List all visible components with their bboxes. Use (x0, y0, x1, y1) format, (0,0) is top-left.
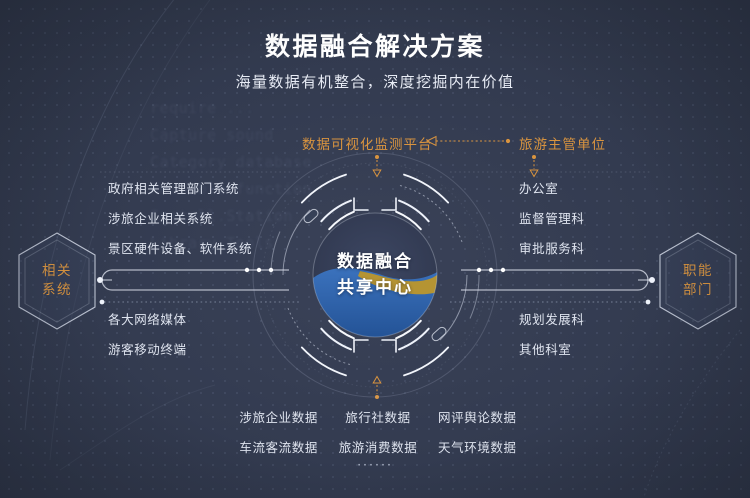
list-right-bottom: 规划发展科 其他科室 (519, 309, 585, 369)
list-item[interactable]: 其他科室 (519, 339, 585, 358)
list-item[interactable]: 景区硬件设备、软件系统 (108, 238, 252, 257)
hexagon-functional-departments[interactable]: 职能 部门 (652, 229, 744, 333)
list-item[interactable]: 网评舆论数据 (432, 407, 523, 426)
list-item[interactable]: 各大网络媒体 (108, 309, 187, 328)
list-bottom-data-sources: 涉旅企业数据 旅行社数据 网评舆论数据 车流客流数据 旅游消费数据 天气环境数据 (233, 407, 523, 456)
connector-authority-down (528, 155, 540, 177)
list-item[interactable]: 政府相关管理部门系统 (108, 178, 252, 197)
infographic-canvas: require ... Capture sound Category datab… (0, 0, 750, 498)
list-item[interactable]: 旅行社数据 (332, 407, 423, 426)
core-label: 数据融合 共享中心 (250, 150, 500, 400)
core-line2: 共享中心 (337, 275, 413, 301)
hexagon-right-line1: 职能 (683, 262, 713, 281)
core-line1: 数据融合 (337, 249, 413, 275)
list-item[interactable]: 涉旅企业相关系统 (108, 208, 252, 227)
list-left-bottom: 各大网络媒体 游客移动终端 (108, 309, 187, 369)
list-item[interactable]: 旅游消费数据 (332, 437, 423, 456)
list-item[interactable]: 监督管理科 (519, 208, 585, 227)
hexagon-right-line2: 部门 (683, 281, 713, 300)
hexagon-left-line2: 系统 (42, 281, 72, 300)
list-item[interactable]: 车流客流数据 (233, 437, 324, 456)
list-item[interactable]: 规划发展科 (519, 309, 585, 328)
list-left-top: 政府相关管理部门系统 涉旅企业相关系统 景区硬件设备、软件系统 (108, 178, 252, 268)
page-title: 数据融合解决方案 (0, 27, 750, 63)
page-subtitle: 海量数据有机整合，深度挖掘内在价值 (0, 71, 750, 92)
list-item[interactable]: 审批服务科 (519, 238, 585, 257)
label-tourism-authority[interactable]: 旅游主管单位 (519, 133, 606, 153)
list-item[interactable]: 天气环境数据 (432, 437, 523, 456)
arrow-authority-to-platform (424, 134, 514, 148)
bottom-ellipsis: ······ (0, 457, 750, 472)
list-right-top: 办公室 监督管理科 审批服务科 (519, 178, 585, 268)
list-item[interactable]: 办公室 (519, 178, 585, 197)
hexagon-left-line1: 相关 (42, 262, 72, 281)
list-item[interactable]: 涉旅企业数据 (233, 407, 324, 426)
hexagon-related-systems[interactable]: 相关 系统 (11, 229, 103, 333)
list-item[interactable]: 游客移动终端 (108, 339, 187, 358)
